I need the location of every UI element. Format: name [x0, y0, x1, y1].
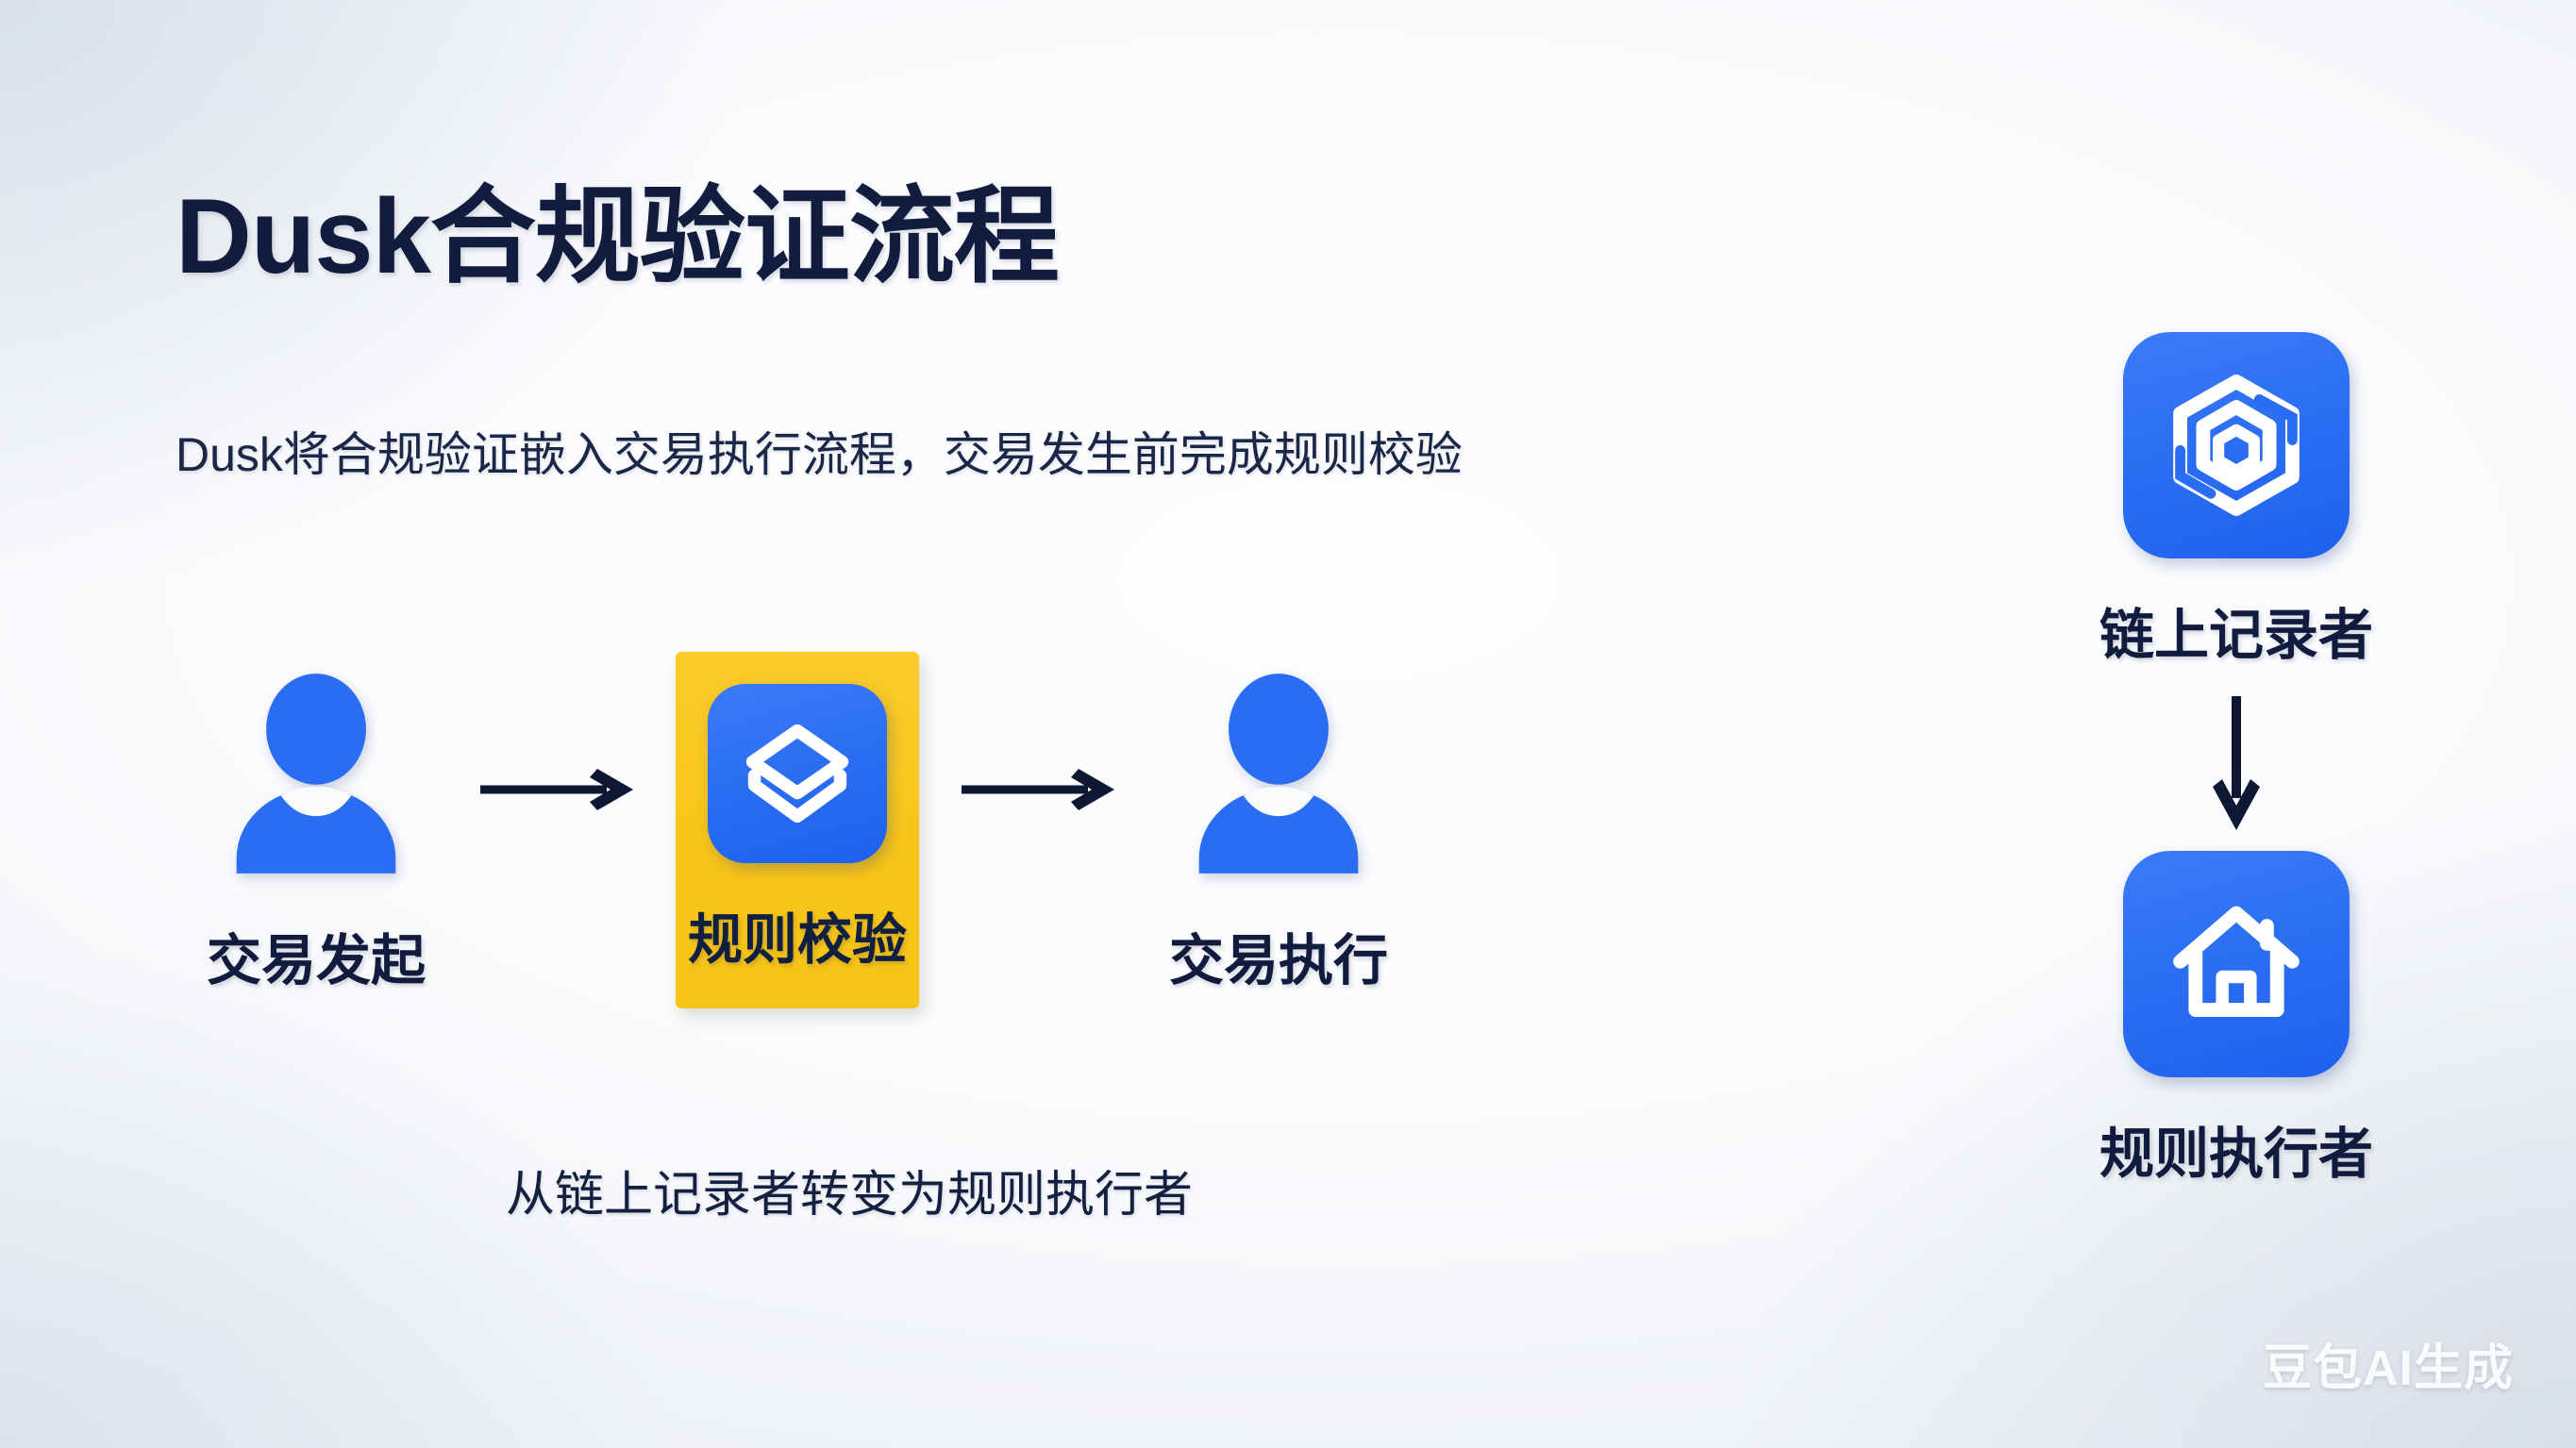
arrow-right-icon [958, 763, 1118, 816]
person-icon [224, 674, 409, 874]
page-title: Dusk合规验证流程 [176, 181, 1059, 293]
rule-validation-tile [708, 684, 887, 863]
flow-step-transaction-initiate[interactable]: 交易发起 [160, 665, 472, 995]
flow-connector-2 [953, 761, 1123, 818]
flow-step-rule-validation[interactable]: 规则校验 [642, 652, 953, 1008]
hexagon-node-icon [2160, 369, 2313, 522]
role-item-chain-recorder[interactable]: 链上记录者 [2099, 332, 2373, 670]
compliance-flow-diagram: 交易发起 规则校验 [160, 604, 1727, 1057]
house-icon [2160, 888, 2313, 1040]
flow-step-art [224, 665, 409, 882]
role-connector [2194, 687, 2279, 840]
person-icon [1186, 674, 1371, 874]
flow-caption: 从链上记录者转变为规则执行者 [506, 1155, 1193, 1225]
role-transition-column: 链上记录者 规则执行者 [1934, 332, 2538, 1189]
role-item-rule-enforcer[interactable]: 规则执行者 [2099, 851, 2373, 1189]
layers-stack-icon [739, 715, 856, 832]
flow-highlight-card[interactable]: 规则校验 [676, 652, 919, 1008]
flow-connector-1 [472, 761, 642, 818]
role-label: 规则执行者 [2099, 1109, 2373, 1189]
flow-step-label: 交易发起 [207, 916, 426, 995]
flow-step-label: 规则校验 [688, 895, 907, 974]
page-subtitle: Dusk将合规验证嵌入交易执行流程，交易发生前完成规则校验 [176, 426, 1463, 483]
flow-step-art [1186, 665, 1371, 882]
watermark: 豆包AI生成 [2263, 1328, 2514, 1399]
chain-recorder-tile [2123, 332, 2350, 558]
flow-step-transaction-execute[interactable]: 交易执行 [1123, 665, 1434, 995]
rule-enforcer-tile [2123, 851, 2350, 1077]
flow-step-label: 交易执行 [1169, 916, 1388, 995]
role-label: 链上记录者 [2099, 591, 2373, 670]
slide-stage: Dusk合规验证流程 Dusk将合规验证嵌入交易执行流程，交易发生前完成规则校验… [0, 0, 2576, 1448]
arrow-down-icon [2207, 692, 2266, 834]
arrow-right-icon [477, 763, 637, 816]
